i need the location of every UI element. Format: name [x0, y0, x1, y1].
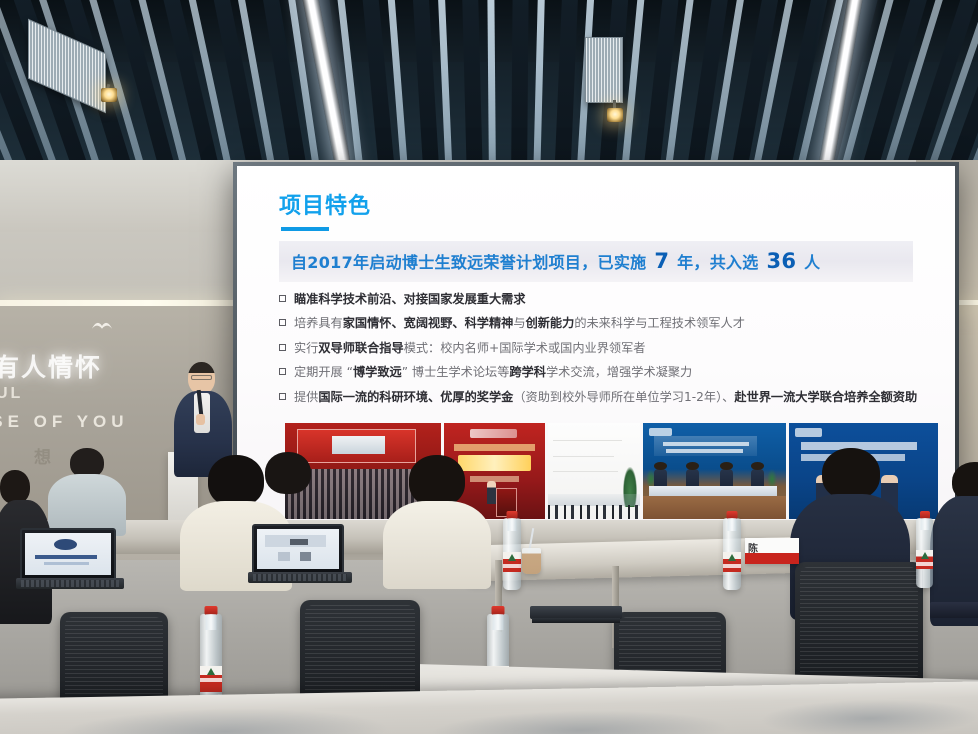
laptop-left[interactable]: [16, 528, 130, 594]
banner-number-count: 36: [764, 249, 798, 273]
name-card: 陈: [745, 538, 799, 564]
slide-bullet-list: 瞄准科学技术前沿、对接国家发展重大需求培养具有家国情怀、宽阔视野、科学精神与创新…: [279, 291, 931, 405]
audience-member-behind: [255, 452, 321, 514]
conference-room-photo: 有人情怀 UL USE OF YOU 想 项目特色 自2017年启动博士生致远荣…: [0, 0, 978, 734]
presenter-glasses: [191, 375, 212, 380]
bullet-item: 培养具有家国情怀、宽阔视野、科学精神与创新能力的未来科学与工程技术领军人才: [279, 315, 931, 331]
water-bottle-4[interactable]: [723, 518, 741, 590]
bullet-marker-icon: [279, 295, 286, 302]
banner-text: 自2017年启动博士生致远荣誉计划项目，已实施 7 年，共入选 36 人: [291, 249, 903, 273]
audience-member-back-left: [48, 448, 126, 534]
laptop-closed-right[interactable]: [530, 606, 622, 626]
presenter-hand: [196, 414, 205, 425]
water-bottle-3[interactable]: [503, 518, 521, 590]
iced-drink-cup[interactable]: [522, 548, 541, 574]
ceiling: [0, 0, 978, 162]
office-chair-right[interactable]: [795, 562, 923, 686]
water-bottle-5[interactable]: [916, 518, 933, 588]
bullet-text: 提供国际一流的科研环境、优厚的奖学金（资助到校外导师所在单位学习1-2年）、赴世…: [294, 389, 917, 405]
bullet-text: 瞄准科学技术前沿、对接国家发展重大需求: [294, 291, 526, 307]
banner-prefix: 自2017年启动博士生致远荣誉计划项目，已实施: [291, 253, 652, 272]
banner-number-years: 7: [652, 249, 671, 273]
title-underline: [281, 227, 329, 231]
banner-mid: 年，共入选: [671, 253, 764, 272]
wall-glow-text-cn: 有人情怀: [0, 348, 102, 384]
photo-signing-ceremony-blue: [643, 423, 786, 519]
bullet-item: 定期开展 “博学致远” 博士生学术论坛等跨学科学术交流，增强学术凝聚力: [279, 364, 931, 380]
bullet-marker-icon: [279, 368, 286, 375]
slide-highlight-banner: 自2017年启动博士生致远荣誉计划项目，已实施 7 年，共入选 36 人: [279, 241, 913, 282]
bullet-marker-icon: [279, 393, 286, 400]
bullet-text: 实行双导师联合指导模式：校内名师+国际学术或国内业界领军者: [294, 340, 645, 356]
bullet-item: 瞄准科学技术前沿、对接国家发展重大需求: [279, 291, 931, 307]
wall-text-line1: UL: [0, 385, 23, 403]
photo-whiteboard-room: [548, 423, 640, 519]
laptop-center[interactable]: [248, 524, 358, 586]
bullet-text: 培养具有家国情怀、宽阔视野、科学精神与创新能力的未来科学与工程技术领军人才: [294, 315, 745, 331]
name-card-label: 陈: [748, 540, 758, 555]
bullet-marker-icon: [279, 344, 286, 351]
bullet-marker-icon: [279, 319, 286, 326]
bullet-text: 定期开展 “博学致远” 博士生学术论坛等跨学科学术交流，增强学术凝聚力: [294, 364, 692, 380]
spotlight-left: [101, 88, 117, 102]
air-vent-right: [585, 37, 623, 103]
laptop-far-right[interactable]: [930, 602, 978, 636]
audience-member-center: [383, 455, 491, 583]
bullet-item: 实行双导师联合指导模式：校内名师+国际学术或国内业界领军者: [279, 340, 931, 356]
spotlight-right: [607, 108, 623, 122]
slide-title: 项目特色: [279, 188, 931, 220]
seagull-icon: [91, 320, 113, 332]
bullet-item: 提供国际一流的科研环境、优厚的奖学金（资助到校外导师所在单位学习1-2年）、赴世…: [279, 389, 931, 405]
banner-suffix: 人: [798, 253, 820, 272]
wall-text-line2: USE OF YOU: [0, 412, 129, 432]
